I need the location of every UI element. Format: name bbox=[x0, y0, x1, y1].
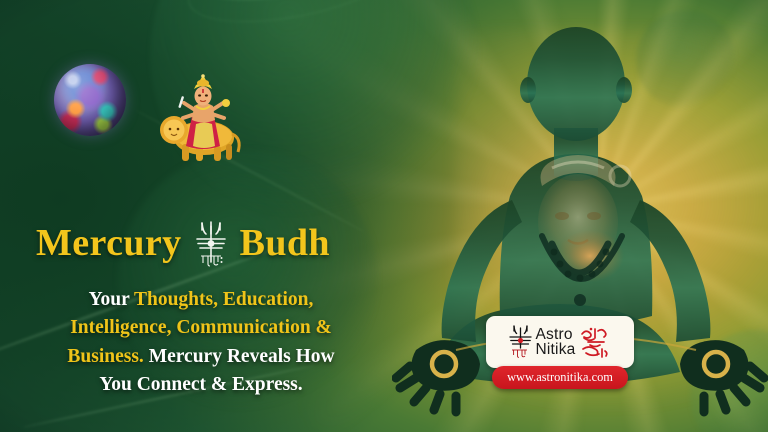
subtitle-line3-gold: Business. bbox=[67, 346, 143, 367]
trishul-shiva-icon bbox=[194, 218, 228, 270]
subtitle-line1-white: Your bbox=[89, 289, 134, 310]
subtitle-line3-white: Mercury Reveals How bbox=[144, 346, 335, 367]
subtitle-line2-gold: Intelligence, Communication & bbox=[70, 317, 332, 338]
page-title: Mercury bbox=[36, 216, 376, 270]
subtitle-line4-white: You Connect & Express. bbox=[99, 374, 302, 395]
logo-wordmark: Astro Nitika bbox=[536, 327, 576, 357]
logo-brand-line2: Nitika bbox=[536, 342, 576, 357]
logo-trishul-icon bbox=[508, 324, 533, 360]
subtitle-text: Your Thoughts, Education, Intelligence, … bbox=[14, 286, 388, 400]
logo-card[interactable]: Astro Nitika bbox=[486, 316, 634, 368]
brand-logo[interactable]: Astro Nitika www.ast bbox=[486, 316, 634, 392]
subtitle-line1-gold: Thoughts, Education, bbox=[134, 289, 313, 310]
om-namah-shivaya-icon bbox=[578, 325, 612, 359]
title-right-word: Budh bbox=[240, 221, 330, 265]
website-url[interactable]: www.astronitika.com bbox=[492, 366, 628, 389]
title-left-word: Mercury bbox=[36, 221, 182, 265]
mercury-budh-banner: Mercury bbox=[0, 0, 768, 432]
